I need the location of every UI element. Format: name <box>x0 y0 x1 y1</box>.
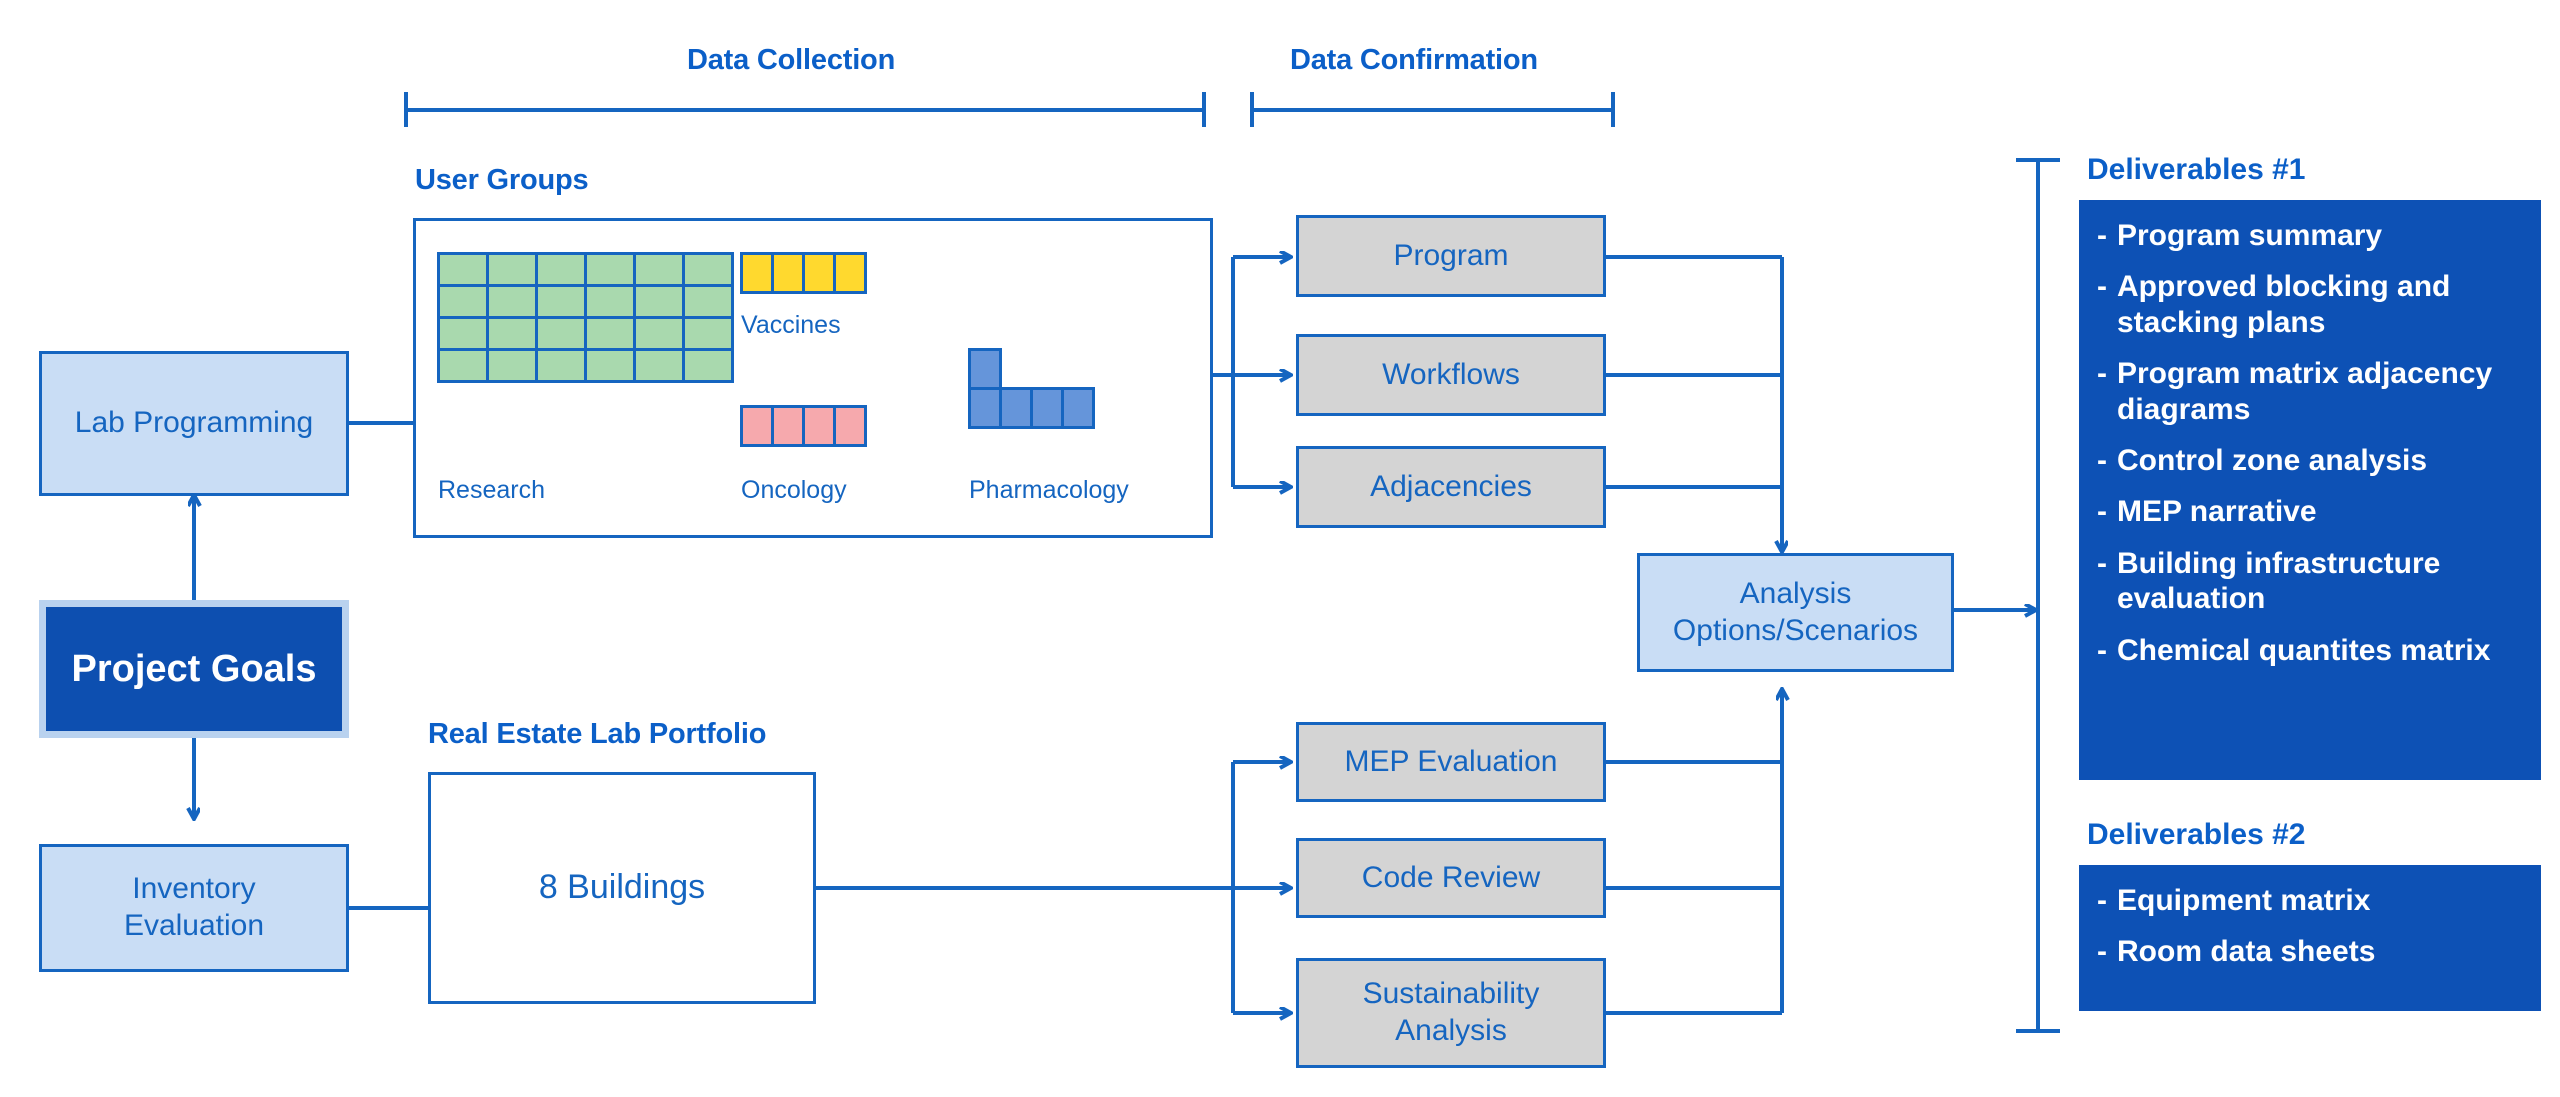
deliverables-1-title: Deliverables #1 <box>2087 153 2305 187</box>
node-project-goals-label: Project Goals <box>72 648 317 691</box>
grid-cell <box>535 284 587 319</box>
grid-cell <box>437 284 489 319</box>
node-sustainability-line2: Analysis <box>1363 1013 1540 1050</box>
deliverables-2-panel: -Equipment matrix-Room data sheets <box>2079 865 2541 1011</box>
grid-cell <box>437 316 489 351</box>
deliverable-item: -Building infrastructure evaluation <box>2097 546 2517 617</box>
deliverable-bullet-dash: - <box>2097 883 2107 918</box>
grid-cell <box>486 252 538 287</box>
user-group-caption-pharmacology: Pharmacology <box>969 476 1129 505</box>
deliverables-1-panel: -Program summary-Approved blocking and s… <box>2079 200 2541 780</box>
grid-cell <box>633 348 685 383</box>
deliverable-item: -Control zone analysis <box>2097 443 2517 478</box>
grid-cell <box>633 284 685 319</box>
grid-cell <box>999 387 1033 429</box>
node-analysis-line2: Options/Scenarios <box>1673 613 1918 650</box>
grid-cell <box>584 252 636 287</box>
deliverable-item: -Equipment matrix <box>2097 883 2517 918</box>
node-analysis-line1: Analysis <box>1673 576 1918 613</box>
node-code-review[interactable]: Code Review <box>1296 838 1606 918</box>
bracket-data-confirmation <box>1252 92 1613 127</box>
grid-cell <box>535 252 587 287</box>
node-sustainability-line1: Sustainability <box>1363 976 1540 1013</box>
node-adjacencies-label: Adjacencies <box>1370 469 1532 506</box>
deliverable-item: -Program matrix adjacency diagrams <box>2097 356 2517 427</box>
deliverable-bullet-dash: - <box>2097 269 2107 340</box>
node-project-goals[interactable]: Project Goals <box>39 600 349 738</box>
node-sustainability-analysis-label: Sustainability Analysis <box>1363 976 1540 1049</box>
node-sustainability-analysis[interactable]: Sustainability Analysis <box>1296 958 1606 1068</box>
node-lab-programming[interactable]: Lab Programming <box>39 351 349 496</box>
deliverable-bullet-dash: - <box>2097 218 2107 253</box>
deliverable-item-text: Building infrastructure evaluation <box>2117 546 2517 617</box>
deliverable-item: -Room data sheets <box>2097 934 2517 969</box>
grid-cell <box>486 348 538 383</box>
grid-cell <box>968 387 1002 429</box>
grid-cell <box>535 316 587 351</box>
node-inventory-evaluation-label: Inventory Evaluation <box>124 871 264 944</box>
user-group-caption-vaccines: Vaccines <box>741 311 841 340</box>
grid-cell <box>535 348 587 383</box>
node-inventory-evaluation-line2: Evaluation <box>124 908 264 945</box>
grid-cell <box>771 252 805 294</box>
node-analysis-options-label: Analysis Options/Scenarios <box>1673 576 1918 649</box>
grid-cell <box>584 284 636 319</box>
node-workflows[interactable]: Workflows <box>1296 334 1606 416</box>
deliverable-item: -Chemical quantites matrix <box>2097 633 2517 668</box>
grid-cell <box>437 252 489 287</box>
node-inventory-evaluation[interactable]: Inventory Evaluation <box>39 844 349 972</box>
user-group-caption-research: Research <box>438 476 545 505</box>
process-diagram: Data Collection Data Confirmation Lab Pr… <box>0 0 2560 1097</box>
portfolio-title: Real Estate Lab Portfolio <box>428 718 766 751</box>
grid-cell <box>802 252 836 294</box>
grid-cell <box>740 405 774 447</box>
node-code-review-label: Code Review <box>1362 860 1540 897</box>
node-inventory-evaluation-line1: Inventory <box>124 871 264 908</box>
deliverable-item-text: Program summary <box>2117 218 2382 253</box>
user-group-shape-oncology <box>741 406 865 445</box>
grid-cell <box>740 252 774 294</box>
deliverable-bullet-dash: - <box>2097 356 2107 427</box>
deliverable-item-text: Room data sheets <box>2117 934 2375 969</box>
user-groups-title: User Groups <box>415 164 588 197</box>
bracket-deliverables <box>2016 160 2060 1031</box>
grid-cell <box>682 348 734 383</box>
user-group-shape-pharmacology <box>969 349 1093 427</box>
deliverable-item: -MEP narrative <box>2097 494 2517 529</box>
node-program-label: Program <box>1393 238 1508 275</box>
node-mep-evaluation[interactable]: MEP Evaluation <box>1296 722 1606 802</box>
grid-cell <box>437 348 489 383</box>
user-group-shape-vaccines <box>741 253 865 292</box>
deliverable-item-text: Program matrix adjacency diagrams <box>2117 356 2517 427</box>
grid-cell <box>633 252 685 287</box>
grid-cell <box>968 348 1002 390</box>
grid-cell <box>682 284 734 319</box>
grid-cell <box>802 405 836 447</box>
node-workflows-label: Workflows <box>1382 357 1520 394</box>
grid-cell <box>584 348 636 383</box>
grid-cell <box>1030 387 1064 429</box>
grid-cell <box>833 252 867 294</box>
deliverable-bullet-dash: - <box>2097 934 2107 969</box>
phase-label-data-collection: Data Collection <box>687 44 895 77</box>
node-adjacencies[interactable]: Adjacencies <box>1296 446 1606 528</box>
deliverable-item-text: Chemical quantites matrix <box>2117 633 2490 668</box>
deliverable-item: -Approved blocking and stacking plans <box>2097 269 2517 340</box>
deliverable-item-text: Equipment matrix <box>2117 883 2370 918</box>
deliverable-item-text: Approved blocking and stacking plans <box>2117 269 2517 340</box>
deliverable-item: -Program summary <box>2097 218 2517 253</box>
grid-cell <box>584 316 636 351</box>
deliverable-bullet-dash: - <box>2097 546 2107 617</box>
grid-cell <box>833 405 867 447</box>
node-buildings-label: 8 Buildings <box>539 867 705 908</box>
grid-cell <box>633 316 685 351</box>
deliverable-item-text: MEP narrative <box>2117 494 2317 529</box>
node-program[interactable]: Program <box>1296 215 1606 297</box>
node-lab-programming-label: Lab Programming <box>75 405 313 442</box>
grid-cell <box>486 284 538 319</box>
phase-label-data-confirmation: Data Confirmation <box>1290 44 1538 77</box>
grid-cell <box>771 405 805 447</box>
deliverable-item-text: Control zone analysis <box>2117 443 2427 478</box>
deliverable-bullet-dash: - <box>2097 494 2107 529</box>
user-group-shape-research <box>438 253 732 381</box>
grid-cell <box>682 316 734 351</box>
user-group-caption-oncology: Oncology <box>741 476 847 505</box>
grid-cell <box>682 252 734 287</box>
user-groups-panel: Research Vaccines Oncology Pharmacology <box>413 218 1213 538</box>
grid-cell <box>1061 387 1095 429</box>
bracket-data-collection <box>406 92 1204 127</box>
node-mep-evaluation-label: MEP Evaluation <box>1345 744 1558 781</box>
deliverable-bullet-dash: - <box>2097 633 2107 668</box>
node-buildings[interactable]: 8 Buildings <box>428 772 816 1004</box>
deliverable-bullet-dash: - <box>2097 443 2107 478</box>
deliverables-2-title: Deliverables #2 <box>2087 818 2305 852</box>
grid-cell <box>486 316 538 351</box>
node-analysis-options[interactable]: Analysis Options/Scenarios <box>1637 553 1954 672</box>
